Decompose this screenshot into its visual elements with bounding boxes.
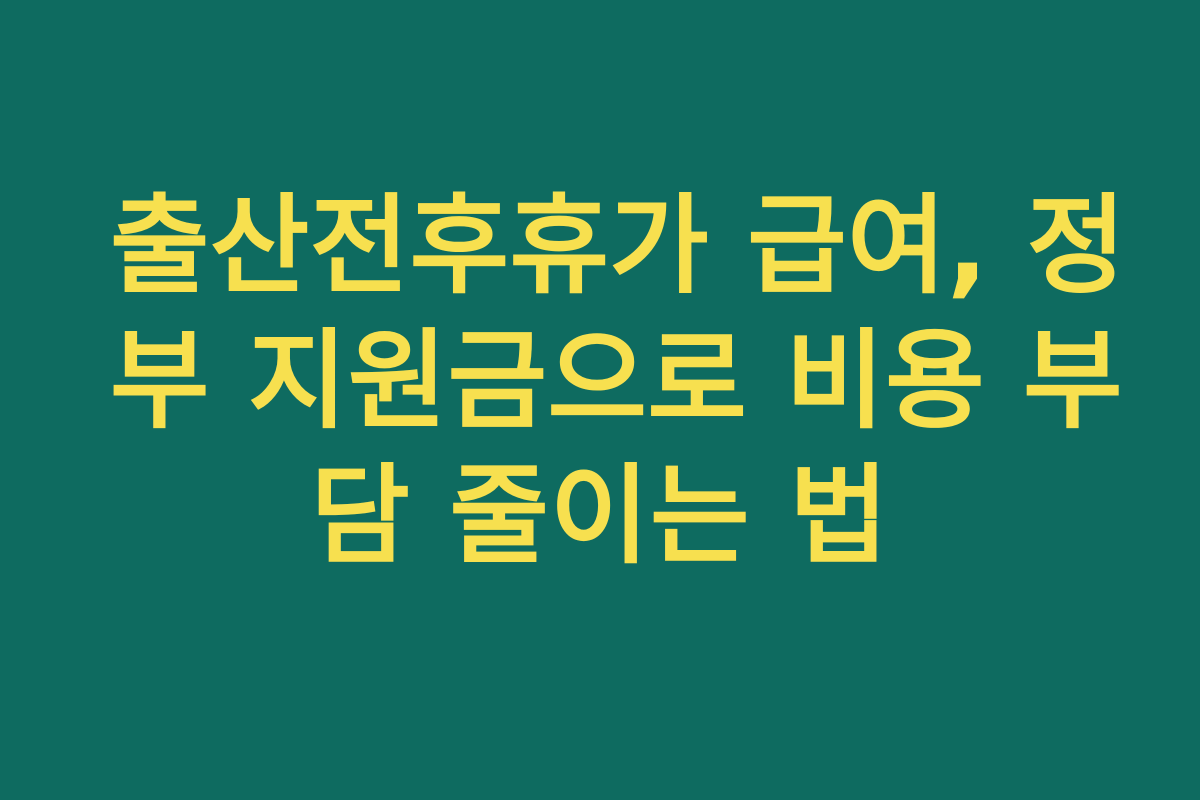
title-block: 출산전후휴가 급여, 정 부 지원금으로 비용 부 담 줄이는 법 xyxy=(110,179,1090,584)
thumbnail-card: 출산전후휴가 급여, 정 부 지원금으로 비용 부 담 줄이는 법 xyxy=(0,0,1200,800)
title-line-2: 부 지원금으로 비용 부 xyxy=(110,314,1090,449)
title-line-1: 출산전후휴가 급여, 정 xyxy=(110,179,1090,314)
title-line-3: 담 줄이는 법 xyxy=(110,449,1090,584)
